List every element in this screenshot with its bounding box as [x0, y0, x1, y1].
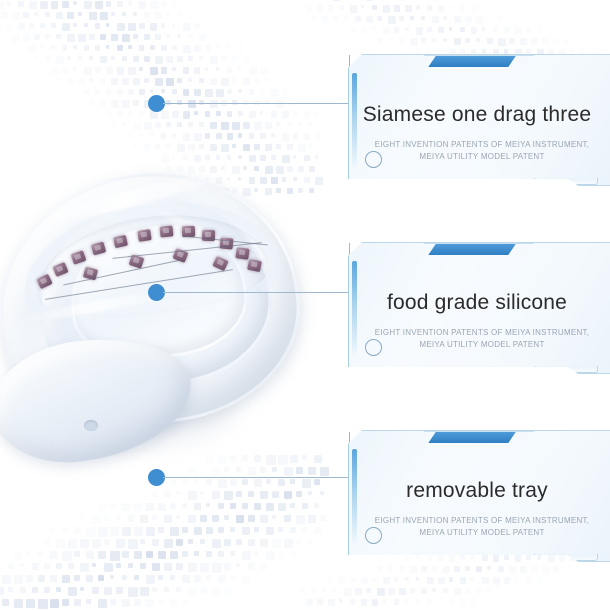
card-bottom-notch: [534, 554, 598, 561]
card-top-tab: [428, 56, 515, 67]
card-subtitle-line-1: EIGHT INVENTION PATENTS OF MEIYA INSTRUM…: [366, 327, 598, 339]
infographic-canvas: Siamese one drag three EIGHT INVENTION P…: [0, 0, 610, 610]
connector-line-2: [163, 292, 350, 293]
feature-card-siamese[interactable]: Siamese one drag three EIGHT INVENTION P…: [348, 54, 610, 186]
card-subtitle-line-1: EIGHT INVENTION PATENTS OF MEIYA INSTRUM…: [366, 139, 598, 151]
card-subtitle-line-2: MEIYA UTILITY MODEL PATENT: [366, 151, 598, 163]
card-top-tab: [428, 432, 515, 443]
led-chip: [137, 229, 152, 242]
feature-card-tray[interactable]: removable tray EIGHT INVENTION PATENTS O…: [348, 430, 610, 562]
card-title: Siamese one drag three: [348, 103, 606, 127]
card-top-tab: [428, 244, 515, 255]
circle-decoration-icon: [365, 527, 382, 544]
feature-card-silicone[interactable]: food grade silicone EIGHT INVENTION PATE…: [348, 242, 610, 374]
card-chamfer-corner: [347, 54, 370, 77]
card-subtitle-line-1: EIGHT INVENTION PATENTS OF MEIYA INSTRUM…: [366, 515, 598, 527]
card-title: food grade silicone: [348, 291, 606, 315]
product-image: [0, 168, 332, 468]
card-subtitle-line-2: MEIYA UTILITY MODEL PATENT: [366, 527, 598, 539]
card-bottom-notch: [534, 178, 598, 185]
card-bottom-notch: [534, 366, 598, 373]
led-chip: [159, 225, 173, 237]
card-subtitle-line-2: MEIYA UTILITY MODEL PATENT: [366, 339, 598, 351]
card-chamfer-corner: [347, 430, 370, 453]
connector-line-1: [163, 103, 350, 104]
card-title: removable tray: [348, 479, 606, 503]
circle-decoration-icon: [365, 339, 382, 356]
circle-decoration-icon: [365, 151, 382, 168]
bite-block-notch: [84, 420, 98, 431]
card-chamfer-corner: [347, 242, 370, 265]
led-chip: [247, 259, 262, 272]
connector-line-3: [163, 477, 350, 478]
led-chip: [235, 247, 249, 260]
